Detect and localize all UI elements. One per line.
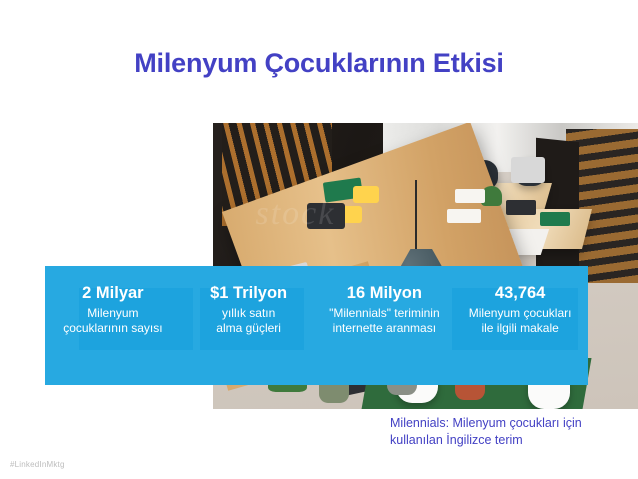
stat-label-line2: internette aranması: [333, 321, 436, 335]
footnote-line2: kullanılan İngilizce terim: [390, 433, 523, 447]
stat-label: Milenyum çocukları ile ilgili makale: [458, 306, 582, 336]
presentation-slide: Milenyum Çocuklarının Etkisi: [0, 0, 638, 479]
stat-label-line1: yıllık satın: [222, 306, 275, 320]
stat-value: 2 Milyar: [51, 283, 175, 303]
stat-label-line2: alma güçleri: [216, 321, 281, 335]
footnote: Milennials: Milenyum çocukları için kull…: [390, 415, 630, 449]
stat-value: 16 Milyon: [323, 283, 447, 303]
stat-value: $1 Trilyon: [187, 283, 311, 303]
photo-tablet-1: [506, 200, 536, 214]
stats-row: 2 Milyar Milenyum çocuklarının sayısı $1…: [45, 283, 588, 336]
photo-lamp-cord: [415, 180, 417, 254]
stat-item-1: 2 Milyar Milenyum çocuklarının sayısı: [45, 283, 181, 336]
footnote-line1: Milennials: Milenyum çocukları için: [390, 416, 582, 430]
stat-label-line2: ile ilgili makale: [481, 321, 558, 335]
stat-item-3: 16 Milyon "Milennials" teriminin interne…: [317, 283, 453, 336]
stat-value: 43,764: [458, 283, 582, 303]
photo-paper-4: [455, 189, 485, 203]
photo-printer: [307, 203, 345, 229]
stat-label-line1: "Milennials" teriminin: [329, 306, 440, 320]
stat-label-line2: çocuklarının sayısı: [63, 321, 162, 335]
photo-notebook: [540, 212, 570, 226]
page-title: Milenyum Çocuklarının Etkisi: [0, 48, 638, 79]
stat-label-line1: Milenyum çocukları: [469, 306, 572, 320]
photo-paper-5: [447, 209, 481, 223]
photo-imac: [511, 157, 545, 183]
stat-label-line1: Milenyum: [87, 306, 138, 320]
stat-label: Milenyum çocuklarının sayısı: [51, 306, 175, 336]
photo-yellow-box: [353, 186, 379, 203]
stat-label: "Milennials" teriminin internette aranma…: [323, 306, 447, 336]
stat-item-4: 43,764 Milenyum çocukları ile ilgili mak…: [452, 283, 588, 336]
stat-label: yıllık satın alma güçleri: [187, 306, 311, 336]
stat-item-2: $1 Trilyon yıllık satın alma güçleri: [181, 283, 317, 336]
hashtag-watermark: #LinkedInMktg: [10, 460, 65, 469]
